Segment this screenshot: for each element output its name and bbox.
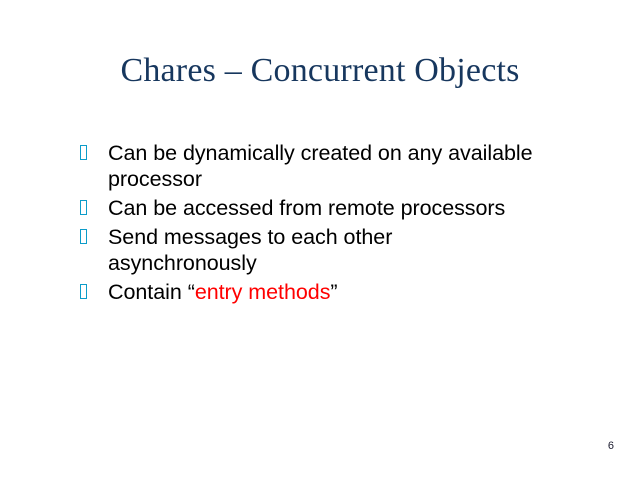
list-item: Send messages to each other asynchronous… [80, 224, 616, 276]
page-number: 6 [608, 440, 614, 452]
list-item-label: Send messages to each other asynchronous… [108, 224, 468, 276]
list-item: Contain “entry methods” [80, 279, 616, 305]
missing-glyph-box-icon [80, 224, 108, 244]
list-item: Can be accessed from remote processors [80, 195, 616, 221]
missing-glyph-box-icon [80, 279, 108, 299]
close-quote: ” [330, 280, 337, 304]
list-item-label: Contain “entry methods” [108, 279, 616, 305]
missing-glyph-box-icon [80, 195, 108, 215]
list-item-label: Can be accessed from remote processors [108, 195, 616, 221]
highlighted-phrase: entry methods [195, 280, 331, 304]
presentation-slide: Chares – Concurrent Objects Can be dynam… [0, 0, 640, 480]
slide-title: Chares – Concurrent Objects [0, 50, 640, 92]
list-item-label-lead: Contain [108, 280, 188, 304]
open-quote: “ [188, 280, 195, 304]
bullet-list: Can be dynamically created on any availa… [80, 140, 616, 308]
missing-glyph-box-icon [80, 140, 108, 160]
list-item-label: Can be dynamically created on any availa… [108, 140, 608, 192]
list-item: Can be dynamically created on any availa… [80, 140, 616, 192]
